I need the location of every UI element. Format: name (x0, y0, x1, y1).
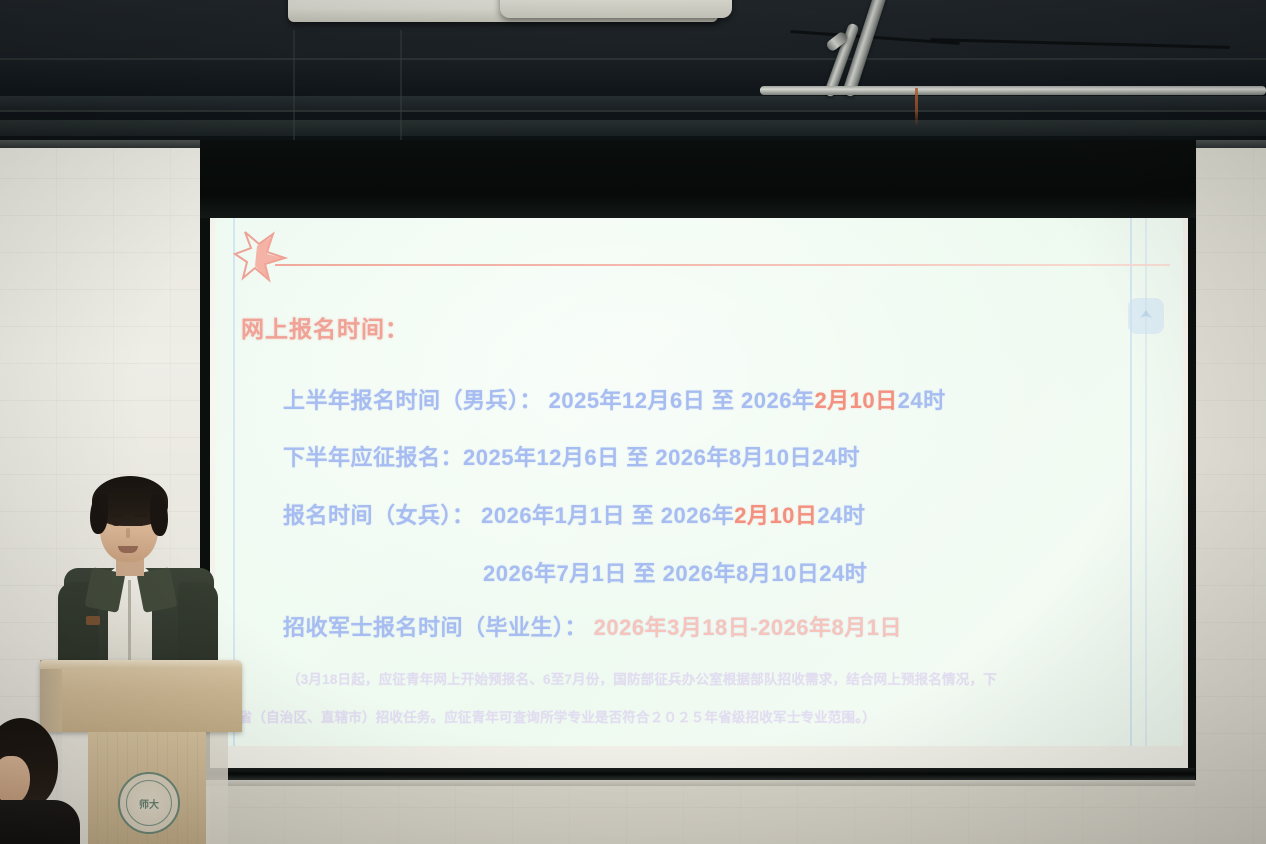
ceiling-support (293, 30, 295, 148)
speaker-hair-side (90, 494, 108, 534)
presentation-photo-scene: 网上报名时间： 上半年报名时间（男兵）： 2025年12月6日 至 2026年2… (0, 0, 1266, 844)
slide-line-female: 报名时间（女兵）： 2026年1月1日 至 2026年2月10日24时 (283, 498, 865, 530)
star-burst-icon (229, 230, 291, 286)
podium-top (40, 660, 242, 732)
podium-emblem-text: 师大 (126, 780, 172, 826)
speaker-eyebrow (134, 514, 146, 517)
line-accent: 2月10日 (814, 388, 897, 413)
speaker-eye (112, 522, 121, 526)
slide-line-female-second: 2026年7月1日 至 2026年8月10日24时 (483, 556, 867, 588)
line-suffix: 24时 (898, 388, 946, 413)
app-watermark-icon (1128, 298, 1164, 334)
ceiling-pipe-horizontal (760, 86, 1266, 95)
slide-heading: 网上报名时间： (241, 310, 409, 344)
line-prefix: 下半年应征报名：2025年12月6日 至 2026年8月10日24时 (283, 445, 860, 470)
slide-line-second-half-enlist: 下半年应征报名：2025年12月6日 至 2026年8月10日24时 (283, 440, 860, 472)
ceiling-support (400, 30, 402, 148)
projection-screen-top-band (200, 140, 1196, 218)
slide-line-male-first-half: 上半年报名时间（男兵）： 2025年12月6日 至 2026年2月10日24时 (283, 383, 946, 415)
speaker-eye (136, 522, 145, 526)
speaker-person (48, 470, 224, 690)
ceiling-rust-stain (915, 88, 918, 126)
ceiling-seam (0, 58, 1266, 60)
slide-note-line-1: （3月18日起，应征青年网上开始预报名、6至7月份，国防部征兵办公室根据部队招收… (287, 668, 997, 688)
line-prefix: 上半年报名时间（男兵）： 2025年12月6日 至 2026年 (283, 388, 814, 413)
slide-line-nco-graduates: 招收军士报名时间（毕业生）： 2026年3月18日-2026年8月1日 (283, 610, 902, 642)
podium-top-left-bevel (40, 660, 62, 732)
projector-glow (215, 218, 1183, 746)
speaker-jacket-badge (86, 616, 100, 625)
speaker-shirt-zipper (128, 580, 131, 660)
line-suffix: 24时 (817, 503, 865, 528)
slide-guide-line (1130, 218, 1132, 746)
ceiling-area (0, 0, 1266, 148)
line-faded: 2026年3月18日-2026年8月1日 (594, 615, 902, 640)
podium-top-edge (40, 660, 242, 669)
line-prefix: 报名时间（女兵）： 2026年1月1日 至 2026年 (283, 503, 734, 528)
line-prefix: 2026年7月1日 至 2026年8月10日24时 (483, 561, 867, 586)
ceiling-band (0, 120, 1266, 136)
projection-screen-bottom-lip (205, 780, 1195, 786)
line-prefix: 招收军士报名时间（毕业生）： (283, 615, 594, 640)
podium-emblem: 师大 (118, 772, 180, 834)
slide-note-line-2: 达省（自治区、直辖市）招收任务。应征青年可查询所学专业是否符合２０２５年省级招收… (225, 706, 876, 726)
speaker-nose (126, 528, 130, 538)
ceiling-projector-housing (500, 0, 732, 18)
projection-screen-bottom-bar (205, 768, 1195, 780)
slide-content: 网上报名时间： 上半年报名时间（男兵）： 2025年12月6日 至 2026年2… (215, 218, 1183, 746)
audience-member-body (0, 800, 80, 844)
line-accent: 2月10日 (734, 503, 817, 528)
slide-divider (275, 264, 1170, 266)
speaker-eyebrow (110, 514, 122, 517)
ceiling-cable (930, 38, 1230, 49)
ceiling-seam (0, 110, 1266, 112)
